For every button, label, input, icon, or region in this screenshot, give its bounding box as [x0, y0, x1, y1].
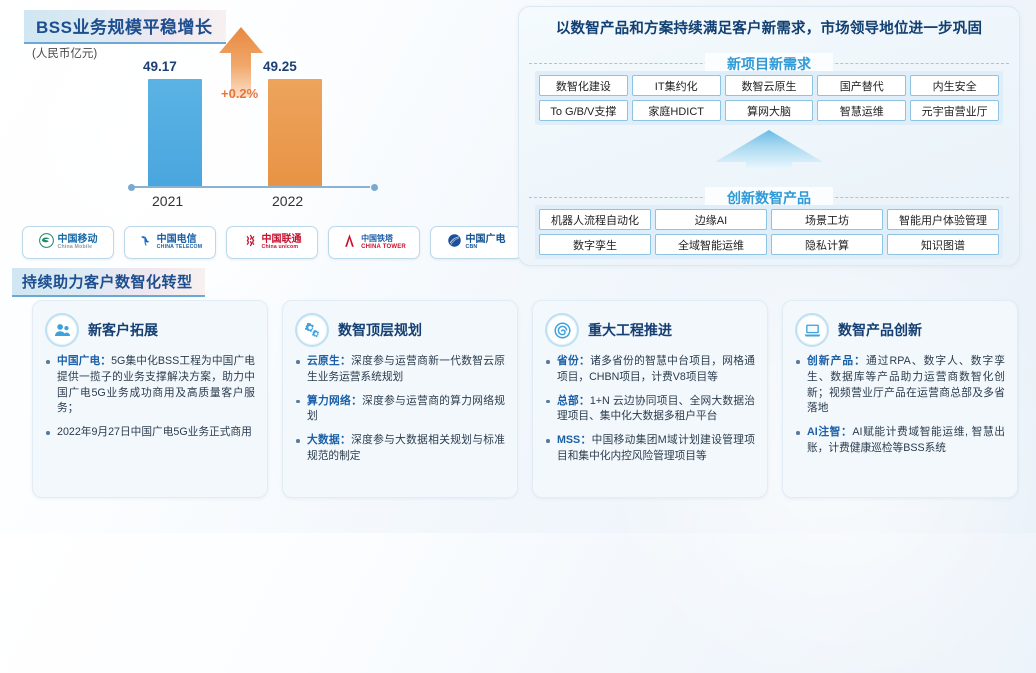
bullet-item: 省份：诸多省份的智慧中台项目，网格通项目，CHBN项目，计费V8项目等: [545, 354, 755, 386]
laptop-icon: [795, 313, 829, 347]
logo-unicom: 中国联通China unicom: [226, 226, 318, 259]
tag-demand-4[interactable]: 内生安全: [910, 75, 999, 96]
logo-telecom: 中国电信CHINA TELECOM: [124, 226, 216, 259]
logo-tower: 中国铁塔CHINA TOWER: [328, 226, 420, 259]
logo-mobile: 中国移动China Mobile: [22, 226, 114, 259]
tag-product-6[interactable]: 隐私计算: [771, 234, 883, 255]
spiral-icon: [545, 313, 579, 347]
telecom-logo-icon: [138, 233, 153, 253]
category-label-2021: 2021: [152, 193, 183, 209]
tag-product-4[interactable]: 数字孪生: [539, 234, 651, 255]
card-header: 重大工程推进: [545, 313, 755, 347]
card-bullet-list: 云原生：深度参与运营商新一代数智云原生业务运营系统规划算力网络：深度参与运营商的…: [295, 354, 505, 465]
bar-value-2021: 49.17: [143, 59, 177, 74]
category-label-2022: 2022: [272, 193, 303, 209]
tag-product-5[interactable]: 全域智能运维: [655, 234, 767, 255]
logo-text: 中国铁塔CHINA TOWER: [361, 235, 406, 250]
tag-demand-5[interactable]: To G/B/V支撑: [539, 100, 628, 121]
tower-logo-icon: [342, 233, 357, 253]
operator-logo-row: 中国移动China Mobile中国电信CHINA TELECOM中国联通Chi…: [22, 226, 522, 259]
card-header: 新客户拓展: [45, 313, 255, 347]
bullet-lead: 云原生：: [307, 355, 351, 367]
section-title-transformation: 持续助力客户数智化转型: [12, 268, 205, 297]
chart-unit-label: (人民币亿元): [32, 45, 97, 61]
growth-percent-label: +0.2%: [221, 86, 258, 101]
axis-end-dot-right: [371, 184, 378, 191]
card-title: 重大工程推进: [588, 320, 672, 340]
bullet-item: MSS：中国移动集团M域计划建设管理项目和集中化内控风险管理项目等: [545, 433, 755, 465]
logo-name-en: CHINA TELECOM: [157, 245, 203, 250]
tag-group-new-demand: 数智化建设IT集约化数智云原生国产替代内生安全To G/B/V支撑家庭HDICT…: [535, 71, 1003, 125]
bar-2022: [268, 79, 322, 187]
bar-value-2022: 49.25: [263, 59, 297, 74]
card-header: 数智产品创新: [795, 313, 1005, 347]
bullet-text: 2022年9月27日中国广电5G业务正式商用: [57, 426, 252, 438]
bullet-item: AI注智：AI赋能计费域智能运维, 智慧出账，计费健康巡检等BSS系统: [795, 425, 1005, 457]
logo-name-en: China unicom: [262, 245, 302, 250]
axis-end-dot-left: [128, 184, 135, 191]
upward-arrow-icon: [714, 129, 824, 169]
panel-title: 以数智产品和方案持续满足客户新需求，市场领导地位进一步巩固: [519, 17, 1019, 38]
logo-text: 中国移动China Mobile: [58, 235, 98, 251]
bullet-item: 总部：1+N 云边协同项目、全网大数据治理项目、集中化大数据多租户平台: [545, 394, 755, 426]
tag-demand-7[interactable]: 算网大脑: [725, 100, 814, 121]
unicom-logo-icon: [243, 233, 258, 253]
card-bullet-list: 省份：诸多省份的智慧中台项目，网格通项目，CHBN项目，计费V8项目等总部：1+…: [545, 354, 755, 465]
capability-card-2: 重大工程推进省份：诸多省份的智慧中台项目，网格通项目，CHBN项目，计费V8项目…: [532, 300, 768, 498]
tag-product-1[interactable]: 边缘AI: [655, 209, 767, 230]
tag-product-2[interactable]: 场景工坊: [771, 209, 883, 230]
tag-demand-9[interactable]: 元宇宙营业厅: [910, 100, 999, 121]
tag-product-7[interactable]: 知识图谱: [887, 234, 999, 255]
logo-name-en: CHINA TOWER: [361, 244, 406, 250]
bullet-item: 2022年9月27日中国广电5G业务正式商用: [45, 425, 255, 441]
chart-axis-line: [130, 186, 370, 188]
capability-card-1: 数智顶层规划云原生：深度参与运营商新一代数智云原生业务运营系统规划算力网络：深度…: [282, 300, 518, 498]
tag-product-0[interactable]: 机器人流程自动化: [539, 209, 651, 230]
logo-cbn: 中国广电CBN: [430, 226, 522, 259]
bullet-lead: 总部：: [557, 395, 590, 407]
logo-text: 中国联通China unicom: [262, 235, 302, 251]
capability-card-3: 数智产品创新创新产品：通过RPA、数字人、数字孪生、数据库等产品助力运营商数智化…: [782, 300, 1018, 498]
bullet-item: 大数据：深度参与大数据相关规划与标准规范的制定: [295, 433, 505, 465]
bullet-lead: 大数据：: [307, 434, 351, 446]
capability-card-0: 新客户拓展中国广电：5G集中化BSS工程为中国广电提供一揽子的业务支撑解决方案，…: [32, 300, 268, 498]
bullet-lead: 中国广电：: [57, 355, 111, 367]
card-bullet-list: 中国广电：5G集中化BSS工程为中国广电提供一揽子的业务支撑解决方案，助力中国广…: [45, 354, 255, 441]
bullet-lead: 算力网络：: [307, 395, 362, 407]
bullet-lead: AI注智：: [807, 426, 852, 438]
card-bullet-list: 创新产品：通过RPA、数字人、数字孪生、数据库等产品助力运营商数智化创新；视频营…: [795, 354, 1005, 457]
bullet-item: 云原生：深度参与运营商新一代数智云原生业务运营系统规划: [295, 354, 505, 386]
card-title: 数智产品创新: [838, 320, 922, 340]
tag-demand-8[interactable]: 智慧运维: [817, 100, 906, 121]
tag-demand-6[interactable]: 家庭HDICT: [632, 100, 721, 121]
page-title: BSS业务规模平稳增长: [24, 10, 226, 44]
card-header: 数智顶层规划: [295, 313, 505, 347]
gears-icon: [295, 313, 329, 347]
capability-card-row: 新客户拓展中国广电：5G集中化BSS工程为中国广电提供一揽子的业务支撑解决方案，…: [32, 300, 1018, 498]
bullet-item: 创新产品：通过RPA、数字人、数字孪生、数据库等产品助力运营商数智化创新；视频营…: [795, 354, 1005, 417]
bullet-item: 中国广电：5G集中化BSS工程为中国广电提供一揽子的业务支撑解决方案，助力中国广…: [45, 354, 255, 417]
card-title: 新客户拓展: [88, 320, 158, 340]
tag-demand-0[interactable]: 数智化建设: [539, 75, 628, 96]
cbn-logo-icon: [447, 233, 462, 253]
tag-group-innovation: 机器人流程自动化边缘AI场景工坊智能用户体验管理数字孪生全域智能运维隐私计算知识…: [535, 205, 1003, 259]
bss-revenue-bar-chart: +0.2% 49.17 49.25 2021 2022: [120, 55, 380, 205]
logo-text: 中国广电CBN: [466, 235, 506, 251]
tag-demand-2[interactable]: 数智云原生: [725, 75, 814, 96]
market-position-panel: 以数智产品和方案持续满足客户新需求，市场领导地位进一步巩固 新项目新需求 数智化…: [518, 6, 1020, 266]
logo-name-en: China Mobile: [58, 245, 98, 250]
divider-bottom: 创新数智产品: [529, 197, 1009, 198]
logo-text: 中国电信CHINA TELECOM: [157, 235, 203, 251]
card-title: 数智顶层规划: [338, 320, 422, 340]
bullet-lead: 省份：: [557, 355, 590, 367]
logo-name-en: CBN: [466, 245, 506, 250]
divider-top: 新项目新需求: [529, 63, 1009, 64]
bar-2021: [148, 79, 202, 187]
bullet-lead: 创新产品：: [807, 355, 866, 367]
logo-name-cn: 中国铁塔: [361, 235, 406, 243]
users-icon: [45, 313, 79, 347]
bullet-lead: MSS：: [557, 434, 592, 446]
tag-product-3[interactable]: 智能用户体验管理: [887, 209, 999, 230]
tag-demand-1[interactable]: IT集约化: [632, 75, 721, 96]
bullet-item: 算力网络：深度参与运营商的算力网络规划: [295, 394, 505, 426]
mobile-logo-icon: [39, 233, 54, 253]
tag-demand-3[interactable]: 国产替代: [817, 75, 906, 96]
